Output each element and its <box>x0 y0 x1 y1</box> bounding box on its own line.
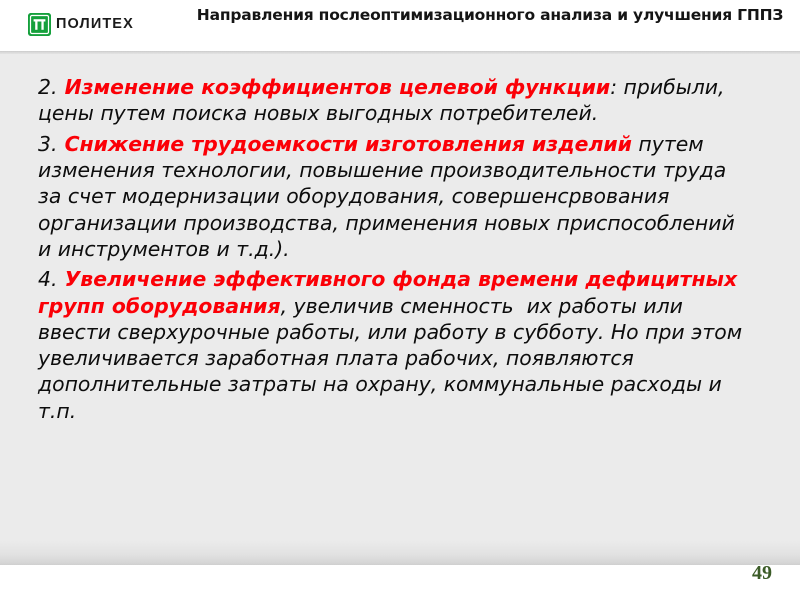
list-item-highlight: Снижение трудоемкости изготовления издел… <box>57 132 631 156</box>
slide-header: ПОЛИТЕХ Направления послеоптимизационног… <box>0 0 800 51</box>
list-item-number: 4. <box>38 267 57 291</box>
list-item-number: 3. <box>38 132 57 156</box>
slide-root: ПОЛИТЕХ Направления послеоптимизационног… <box>0 0 800 600</box>
body-text-block: 2. Изменение коэффициентов целевой функц… <box>38 74 754 426</box>
list-item: 3. Снижение трудоемкости изготовления из… <box>38 131 754 263</box>
page-title: Направления послеоптимизационного анализ… <box>190 6 790 25</box>
page-number: 49 <box>752 563 772 583</box>
list-item-number: 2. <box>38 75 57 99</box>
list-item: 4. Увеличение эффективного фонда времени… <box>38 266 754 424</box>
politeh-pi-logo-icon <box>28 13 51 36</box>
list-item: 2. Изменение коэффициентов целевой функц… <box>38 74 754 127</box>
content-bottom-fade <box>0 541 800 565</box>
slide-content-panel: 2. Изменение коэффициентов целевой функц… <box>0 54 800 565</box>
brand-logo-text: ПОЛИТЕХ <box>56 17 134 32</box>
brand-logo: ПОЛИТЕХ <box>28 13 134 36</box>
list-item-highlight: Изменение коэффициентов целевой функции <box>57 75 610 99</box>
